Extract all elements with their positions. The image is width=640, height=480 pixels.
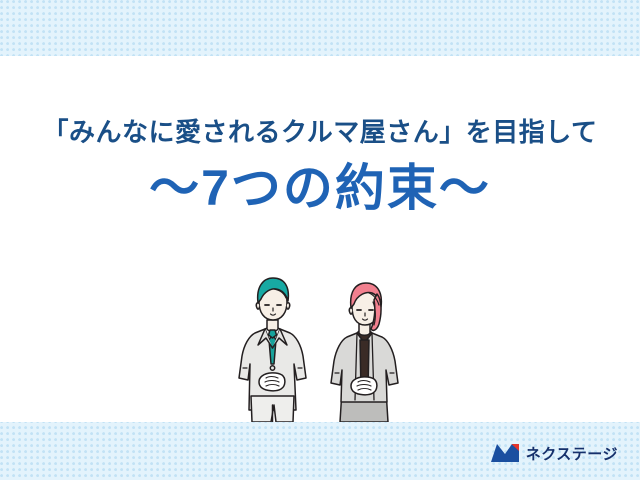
female-staff-figure xyxy=(331,283,398,422)
promo-banner: 「みんなに愛されるクルマ屋さん」を目指して ～7つの約束～ xyxy=(0,0,640,480)
brand-name: ネクステージ xyxy=(526,443,618,464)
male-staff-figure xyxy=(239,278,306,422)
brand-logo: ネクステージ xyxy=(490,442,618,464)
nextage-n-mark xyxy=(490,442,520,464)
two-staff-illustration xyxy=(236,272,416,422)
